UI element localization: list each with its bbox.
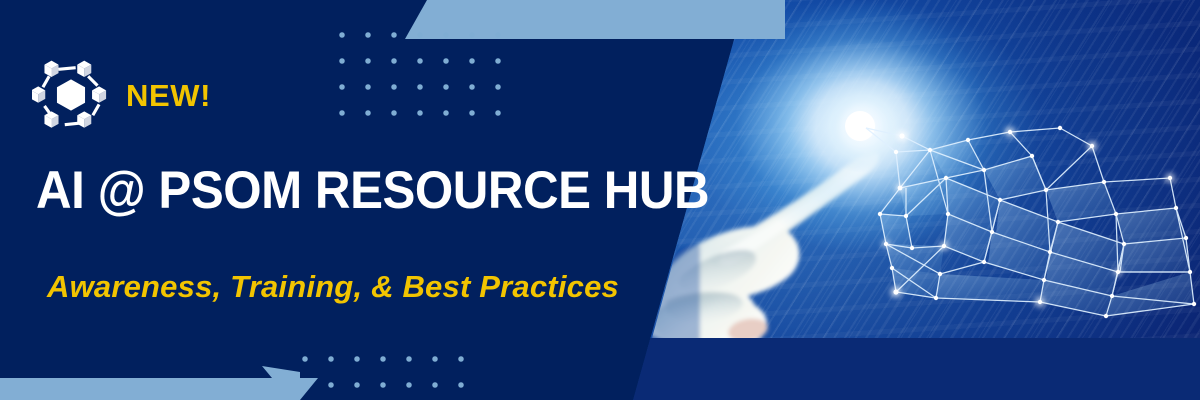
ai-psom-resource-hub-banner: NEW! AI @ PSOM RESOURCE HUB Awareness, T… bbox=[0, 0, 1200, 400]
new-badge-label: NEW! bbox=[126, 80, 211, 111]
dot-grid-bottom bbox=[288, 342, 478, 400]
page-subtitle: Awareness, Training, & Best Practices bbox=[47, 270, 619, 304]
dot-grid-top bbox=[325, 18, 515, 128]
hex-node-network-icon bbox=[32, 56, 110, 134]
page-title: AI @ PSOM RESOURCE HUB bbox=[36, 163, 709, 219]
new-badge-row: NEW! bbox=[32, 56, 211, 134]
